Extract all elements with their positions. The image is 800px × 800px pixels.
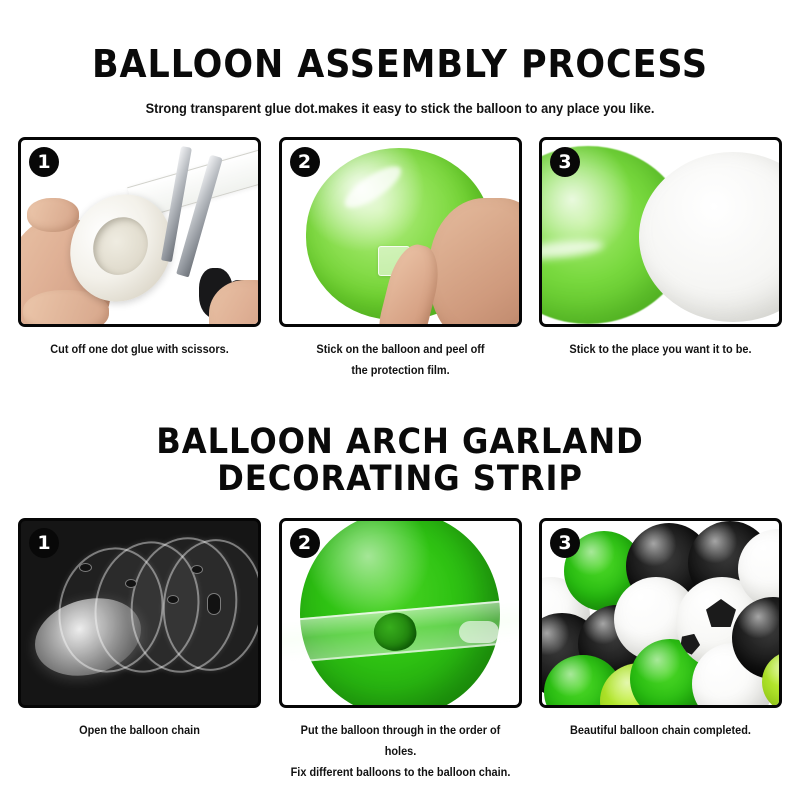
step-badge-1: 1 [29,528,59,558]
garland-step-3-image[interactable]: 3 [539,518,782,708]
page-title-assembly: BALLOON ASSEMBLY PROCESS [32,0,768,84]
assembly-step-3-caption: Stick to the place you want it to be. [545,340,776,361]
caption-line-2: the protection film. [285,361,516,382]
assembly-step-2-caption: Stick on the balloon and peel off the pr… [285,340,516,382]
strip-hole [125,579,137,588]
page-title-garland-line1: BALLOON ARCH GARLAND [32,424,768,461]
assembly-step-1-image[interactable]: 1 [18,137,261,327]
assembly-subtitle: Strong transparent glue dot.makes it eas… [20,101,780,117]
step-badge-2: 2 [290,147,320,177]
step-badge-2: 2 [290,528,320,558]
tape-roll-core [87,209,153,283]
garland-step-1-caption: Open the balloon chain [24,721,255,742]
garland-step-2-caption: Put the balloon through in the order of … [285,721,516,784]
caption-line-1: Beautiful balloon chain completed. [545,721,776,742]
assembly-steps-row: 1 Cut off one dot glue with scissors. 2 … [0,137,800,382]
step-badge-1: 1 [29,147,59,177]
index-finger [27,198,79,232]
garland-step-3: 3 Beautiful balloon chain completed. [539,518,782,784]
assembly-step-2-image[interactable]: 2 [279,137,522,327]
assembly-step-2: 2 Stick on the balloon and peel off the … [279,137,522,382]
step-badge-3: 3 [550,528,580,558]
garland-step-2-image[interactable]: 2 [279,518,522,708]
page-title-garland-line2: DECORATING STRIP [32,461,768,498]
balloon-highlight [539,237,605,263]
garland-step-2: 2 Put the balloon through in the order o… [279,518,522,784]
strip-hole [167,595,179,604]
garland-steps-row: 1 Open the balloon chain 2 Put the ballo… [0,518,800,784]
garland-step-3-caption: Beautiful balloon chain completed. [545,721,776,742]
assembly-step-3: 3 Stick to the place you want it to be. [539,137,782,382]
caption-line-1: Open the balloon chain [24,721,255,742]
caption-line-1: Stick to the place you want it to be. [545,340,776,361]
pentagon-patch [706,599,736,627]
caption-line-1: Put the balloon through in the order of … [285,721,516,763]
garland-step-1-image[interactable]: 1 [18,518,261,708]
assembly-step-1: 1 Cut off one dot glue with scissors. [18,137,261,382]
caption-line-2: Fix different balloons to the balloon ch… [285,763,516,784]
strip-hole [207,593,221,615]
step-badge-3: 3 [550,147,580,177]
caption-line-1: Cut off one dot glue with scissors. [24,340,255,361]
strip-hole [79,563,92,572]
assembly-step-3-image[interactable]: 3 [539,137,782,327]
balloon-highlight [339,159,406,214]
assembly-step-1-caption: Cut off one dot glue with scissors. [24,340,255,361]
strip-hole [459,621,499,643]
garland-step-1: 1 Open the balloon chain [18,518,261,784]
strip-hole [191,565,203,574]
caption-line-1: Stick on the balloon and peel off [285,340,516,361]
